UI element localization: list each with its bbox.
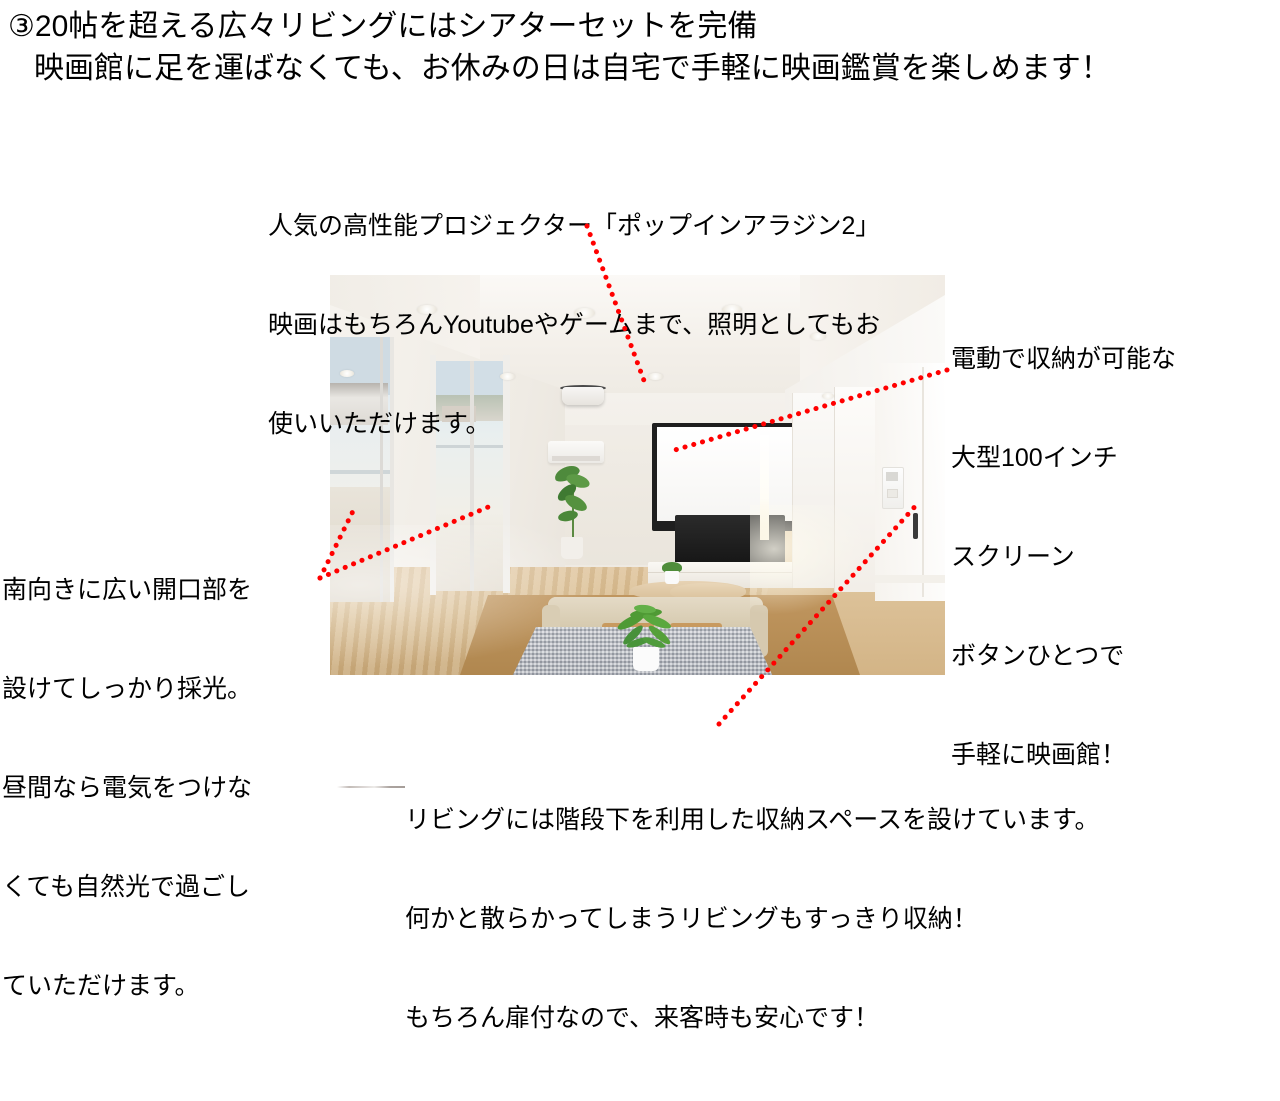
projector-callout-line-2: 映画はもちろんYoutubeやゲームまで、照明としてもお [268,309,880,342]
page-title-line-1: ③20帖を超える広々リビングにはシアターセットを完備 [8,10,757,43]
page-title: ③20帖を超える広々リビングにはシアターセットを完備映画館に足を運ばなくても、お… [8,6,1111,90]
window-callout: 南向きに広い開口部を 設けてしっかり採光。 昼間なら電気をつけな くても自然光で… [2,508,252,1069]
screen-callout-line-3: スクリーン [951,541,1176,574]
window-callout-line-2: 設けてしっかり採光。 [2,673,252,706]
storage-callout: リビングには階段下を利用した収納スペースを設けています。 何かと散らかってしまう… [405,738,1100,1101]
slide-canvas: ③20帖を超える広々リビングにはシアターセットを完備映画館に足を運ばなくても、お… [0,0,1280,950]
under-stair-storage-door-seam [922,367,924,597]
storage-callout-line-1: リビングには階段下を利用した収納スペースを設けています。 [405,804,1100,837]
baseboard [875,575,945,583]
window-callout-line-3: 昼間なら電気をつけな [2,772,252,805]
window-callout-line-1: 南向きに広い開口部を [2,574,252,607]
fern-pot [633,647,659,671]
window-callout-line-5: ていただけます。 [2,970,252,1003]
window-callout-line-4: くても自然光で過ごし [2,871,252,904]
storage-callout-line-2: 何かと散らかってしまうリビングもすっきり収納！ [405,903,1100,936]
projector-callout-line-3: 使いいただけます。 [268,408,880,441]
screen-callout-line-2: 大型100インチ [951,442,1176,475]
screen-callout-line-4: ボタンひとつで [951,640,1176,673]
table-plant-pot [665,571,679,584]
projector-callout: 人気の高性能プロジェクター「ポップインアラジン2」 映画はもちろんYoutube… [268,144,880,507]
intercom-button [887,489,898,498]
hallway-light-glow [750,505,870,615]
intercom-screen [886,472,898,481]
storage-callout-line-3: もちろん扉付なので、来客時も安心です！ [405,1002,1100,1035]
under-stair-storage-door-handle [913,513,918,539]
tall-plant-pot [561,537,583,559]
screen-callout-line-1: 電動で収納が可能な [951,343,1176,376]
stray-line-artifact [337,786,405,788]
page-title-line-2: 映画館に足を運ばなくても、お休みの日は自宅で手軽に映画鑑賞を楽しめます！ [8,48,1111,90]
projector-callout-line-1: 人気の高性能プロジェクター「ポップインアラジン2」 [268,210,880,243]
